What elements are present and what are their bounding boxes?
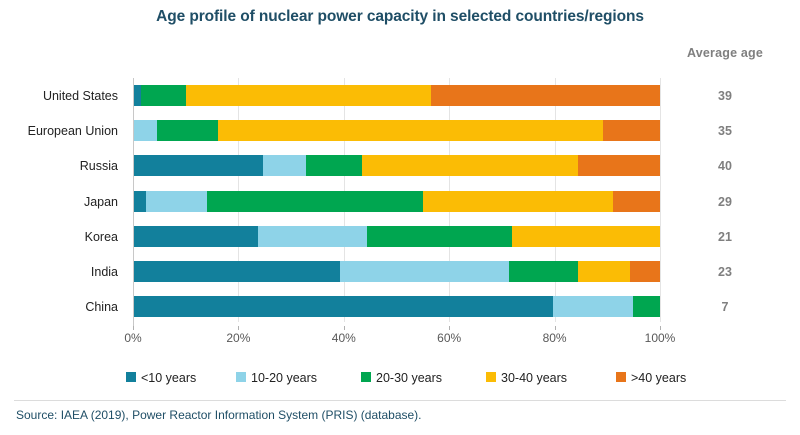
x-axis-tick-label: 60% <box>419 331 479 345</box>
bar-segment <box>133 120 157 141</box>
bar-segment <box>362 155 578 176</box>
bar-segment <box>141 85 186 106</box>
average-age-column: 3935402921237 <box>665 78 785 322</box>
x-axis: 0%20%40%60%80%100% <box>133 326 660 346</box>
bar-segment <box>431 85 660 106</box>
gridline <box>660 78 661 322</box>
x-axis-tick-label: 20% <box>208 331 268 345</box>
bar-segment <box>133 155 263 176</box>
bar-segment <box>553 296 633 317</box>
x-axis-tick <box>133 326 134 330</box>
average-age-value: 35 <box>665 121 785 141</box>
bar-segment <box>603 120 660 141</box>
y-axis-line <box>133 78 134 326</box>
average-age-value: 29 <box>665 192 785 212</box>
bar-segment <box>133 85 141 106</box>
legend-item[interactable]: 30-40 years <box>486 368 567 388</box>
bar-row <box>133 296 660 317</box>
bar-segment <box>157 120 218 141</box>
source-note: Source: IAEA (2019), Power Reactor Infor… <box>16 408 422 422</box>
bar-row <box>133 155 660 176</box>
category-label: Korea <box>0 227 118 247</box>
bar-segment <box>509 261 578 282</box>
category-label: United States <box>0 86 118 106</box>
chart-legend: <10 years10-20 years20-30 years30-40 yea… <box>126 368 686 390</box>
x-axis-tick <box>238 326 239 330</box>
plot-area <box>133 78 660 322</box>
category-label: China <box>0 297 118 317</box>
bar-segment <box>258 226 367 247</box>
average-age-value: 39 <box>665 86 785 106</box>
legend-item[interactable]: <10 years <box>126 368 196 388</box>
x-axis-tick <box>449 326 450 330</box>
legend-item[interactable]: 20-30 years <box>361 368 442 388</box>
legend-item[interactable]: 10-20 years <box>236 368 317 388</box>
bar-segment <box>340 261 509 282</box>
x-axis-tick <box>555 326 556 330</box>
bar-row <box>133 120 660 141</box>
bar-row <box>133 85 660 106</box>
bar-segment <box>186 85 431 106</box>
bar-segment <box>512 226 660 247</box>
chart-figure: Age profile of nuclear power capacity in… <box>0 0 800 435</box>
bar-segment <box>263 155 306 176</box>
legend-label: 30-40 years <box>501 368 567 388</box>
bar-segment <box>133 296 553 317</box>
x-axis-tick-label: 0% <box>103 331 163 345</box>
bar-segment <box>578 261 630 282</box>
category-label-column: United StatesEuropean UnionRussiaJapanKo… <box>0 78 126 322</box>
legend-label: 20-30 years <box>376 368 442 388</box>
category-label: Russia <box>0 156 118 176</box>
bar-segment <box>367 226 512 247</box>
average-age-value: 23 <box>665 262 785 282</box>
bar-segment <box>613 191 660 212</box>
bar-row <box>133 261 660 282</box>
chart-title: Age profile of nuclear power capacity in… <box>0 8 800 26</box>
legend-swatch-icon <box>361 372 371 382</box>
bar-segment <box>133 226 258 247</box>
bar-segment <box>630 261 660 282</box>
bar-segment <box>633 296 660 317</box>
bar-segment <box>146 191 207 212</box>
bar-row <box>133 226 660 247</box>
legend-label: <10 years <box>141 368 196 388</box>
x-axis-tick <box>660 326 661 330</box>
category-label: Japan <box>0 192 118 212</box>
bar-segment <box>306 155 362 176</box>
category-label: India <box>0 262 118 282</box>
average-age-value: 7 <box>665 297 785 317</box>
legend-swatch-icon <box>616 372 626 382</box>
bar-segment <box>423 191 612 212</box>
average-age-value: 40 <box>665 156 785 176</box>
legend-swatch-icon <box>486 372 496 382</box>
legend-item[interactable]: >40 years <box>616 368 686 388</box>
average-age-column-header: Average age <box>665 46 785 60</box>
legend-label: 10-20 years <box>251 368 317 388</box>
legend-label: >40 years <box>631 368 686 388</box>
x-axis-tick-label: 80% <box>525 331 585 345</box>
source-divider <box>14 400 786 401</box>
bar-segment <box>133 191 146 212</box>
bar-segment <box>578 155 660 176</box>
legend-swatch-icon <box>126 372 136 382</box>
average-age-value: 21 <box>665 227 785 247</box>
x-axis-tick-label: 100% <box>630 331 690 345</box>
bar-row <box>133 191 660 212</box>
x-axis-tick <box>344 326 345 330</box>
bar-segment <box>133 261 340 282</box>
legend-swatch-icon <box>236 372 246 382</box>
bar-segment <box>218 120 603 141</box>
x-axis-tick-label: 40% <box>314 331 374 345</box>
bar-segment <box>207 191 423 212</box>
category-label: European Union <box>0 121 118 141</box>
